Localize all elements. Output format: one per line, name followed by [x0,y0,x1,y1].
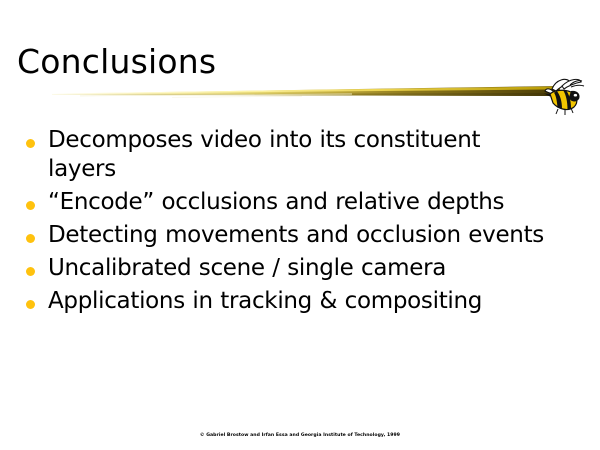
list-item-label: Decomposes video into its constituent la… [48,126,553,184]
list-item: “Encode” occlusions and relative depths [26,188,586,217]
gold-disc-bullet-icon [26,300,35,309]
gold-disc-bullet-icon [26,234,35,243]
page-title: Conclusions [17,44,216,80]
list-item-label: Detecting movements and occlusion events [48,221,553,250]
bee-flight-trail-icon [52,84,560,106]
list-item: Applications in tracking & compositing [26,287,586,316]
bee-icon [540,76,588,116]
list-item-label: “Encode” occlusions and relative depths [48,188,586,217]
gold-disc-bullet-icon [26,139,35,148]
gold-disc-bullet-icon [26,201,35,210]
gold-disc-bullet-icon [26,267,35,276]
list-item: Decomposes video into its constituent la… [26,126,586,184]
bullet-list: Decomposes video into its constituent la… [26,126,586,320]
slide-canvas: Conclusions [0,0,600,450]
copyright-footer: © Gabriel Brostow and Irfan Essa and Geo… [0,432,600,440]
list-item-label: Applications in tracking & compositing [48,287,586,316]
list-item: Uncalibrated scene / single camera [26,254,586,283]
list-item: Detecting movements and occlusion events [26,221,586,250]
list-item-label: Uncalibrated scene / single camera [48,254,586,283]
